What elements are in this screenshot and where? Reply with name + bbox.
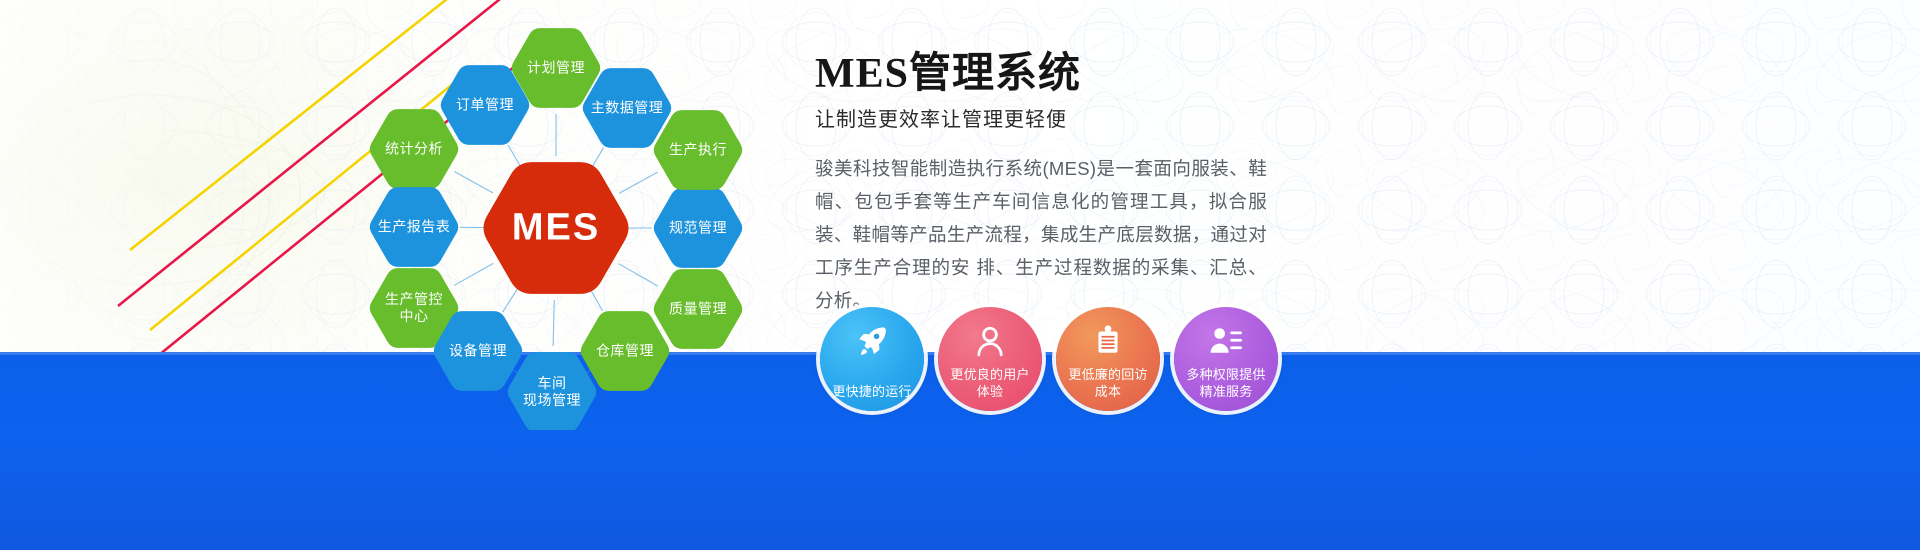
- badge-permissions[interactable]: 多种权限提供 精准服务: [1174, 307, 1278, 411]
- badge-better-experience-label: 更优良的用户 体验: [942, 366, 1038, 400]
- hex-warehouse-management[interactable]: [581, 311, 670, 391]
- badge-faster-operation-label: 更快捷的运行: [824, 383, 920, 400]
- badge-lower-cost[interactable]: 更低廉的回访 成本: [1056, 307, 1160, 411]
- page-description: 骏美科技智能制造执行系统(MES)是一套面向服装、鞋帽、包包手套等生产车间信息化…: [815, 152, 1267, 317]
- badge-lower-cost-label: 更低廉的回访 成本: [1060, 366, 1156, 400]
- hex-center-mes[interactable]: [484, 162, 629, 294]
- badge-faster-operation[interactable]: 更快捷的运行: [820, 307, 924, 411]
- user-icon: [973, 324, 1007, 358]
- hex-master-data-management[interactable]: [583, 68, 672, 148]
- mes-hexagon-diagram: 计划管理订单管理统计分析生产报告表生产管控 中心设备管理车间 现场管理仓库管理质…: [330, 10, 800, 430]
- hex-statistics-analysis[interactable]: [370, 109, 459, 189]
- hex-workshop-site-management[interactable]: [508, 352, 597, 430]
- badge-better-experience[interactable]: 更优良的用户 体验: [938, 307, 1042, 411]
- user-list-icon: [1209, 324, 1243, 358]
- hex-production-report[interactable]: [370, 187, 459, 267]
- hex-quality-management[interactable]: [654, 269, 743, 349]
- hex-standard-management[interactable]: [654, 188, 743, 268]
- rocket-icon: [855, 324, 889, 358]
- document-icon: [1091, 324, 1125, 358]
- banner-root: 计划管理订单管理统计分析生产报告表生产管控 中心设备管理车间 现场管理仓库管理质…: [0, 0, 1920, 550]
- feature-badge-list: 更快捷的运行更优良的用户 体验更低廉的回访 成本多种权限提供 精准服务: [820, 307, 1278, 411]
- hex-production-execution[interactable]: [654, 110, 743, 190]
- badge-permissions-label: 多种权限提供 精准服务: [1178, 366, 1274, 400]
- page-title: MES管理系统: [815, 48, 1375, 100]
- text-panel: MES管理系统 让制造更效率让管理更轻便 骏美科技智能制造执行系统(MES)是一…: [815, 48, 1375, 317]
- page-subtitle: 让制造更效率让管理更轻便: [815, 106, 1375, 134]
